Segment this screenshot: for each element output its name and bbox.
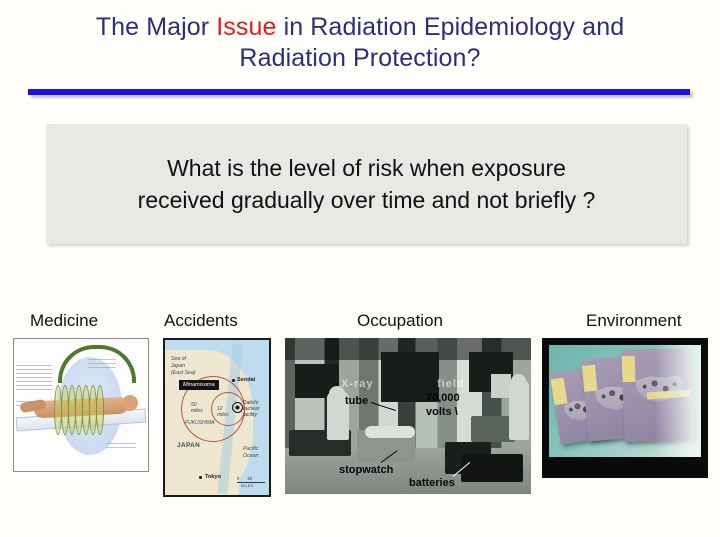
nuclear-facility-icon: [232, 402, 243, 413]
patient-head: [122, 395, 138, 411]
illustration-callout-bottom: [106, 443, 136, 450]
category-label-occupation: Occupation: [357, 311, 443, 331]
question-line-2: received gradually over time and not bri…: [138, 184, 596, 216]
map-scale-max: 50: [248, 476, 253, 481]
map-scale-units: MILES: [241, 484, 253, 488]
title-text-after: in Radiation Epidemiology and: [277, 13, 625, 41]
map-facility-line-3: facility: [243, 412, 257, 418]
map-scale-numbers: 0 50: [237, 476, 252, 481]
map-sea-of-japan-label: Sea of Japan (East Sea): [171, 356, 196, 377]
category-label-accidents: Accidents: [164, 311, 238, 331]
photo-volts-value: 70,000: [426, 392, 460, 404]
map-city-label-tokyo: Tokyo: [205, 474, 221, 480]
title-divider-rule: [28, 89, 690, 95]
category-label-environment: Environment: [586, 311, 681, 331]
photo-patient: [365, 426, 415, 438]
question-callout-box: What is the level of risk when exposure …: [46, 124, 687, 244]
booklet-band: [582, 365, 597, 392]
occupation-xray-photo: X-ray field tube 70,000 volts \ stopwatc…: [285, 338, 531, 494]
map-minamisoma-callout: Minamisoma: [179, 380, 219, 390]
photo-label-stopwatch: stopwatch: [339, 464, 393, 476]
beam-rings-group: [54, 385, 106, 433]
page-title: The Major Issue in Radiation Epidemiolog…: [30, 12, 690, 74]
photo-faint-text-left: X-ray: [341, 378, 374, 390]
photo-operator-right: [509, 380, 529, 440]
map-50-mile-label: 50 miles: [191, 402, 203, 414]
question-line-1: What is the level of risk when exposure: [138, 152, 596, 184]
beam-ring: [96, 385, 104, 435]
medicine-illustration: [13, 338, 149, 472]
map-facility-label: Daiichi nuclear facility: [243, 400, 259, 418]
photo-teal-backdrop: [549, 345, 701, 457]
category-label-medicine: Medicine: [30, 311, 98, 331]
map-sea-line-1: Sea of: [171, 356, 186, 362]
map-50-unit: miles: [191, 408, 203, 414]
photo-highlight-gradient: [655, 345, 701, 457]
photo-window-4: [491, 374, 511, 398]
presentation-slide: The Major Issue in Radiation Epidemiolog…: [0, 0, 720, 537]
illustration-callout-top: [88, 359, 116, 369]
title-line-1: The Major Issue in Radiation Epidemiolog…: [30, 12, 690, 43]
map-pacific-ocean-label: Pacific Ocean: [243, 446, 258, 460]
map-city-dot-sendai: [232, 379, 235, 382]
booklet-band: [622, 356, 636, 382]
booklet-band: [551, 378, 568, 406]
map-12-mile-label: 12 miles: [217, 406, 229, 418]
title-line-2: Radiation Protection?: [30, 43, 690, 74]
map-city-label-sendai: Sendai: [237, 377, 255, 383]
photo-label-volts: 70,000 volts \: [426, 391, 460, 419]
photo-volts-unit: volts \: [426, 406, 458, 418]
title-accent-word: Issue: [216, 13, 276, 41]
fukushima-map-image: Sea of Japan (East Sea) Pacific Ocean JA…: [163, 338, 271, 497]
map-ocean-line-1: Pacific: [243, 446, 258, 452]
map-sea-line-3: (East Sea): [171, 370, 196, 376]
map-12-unit: miles: [217, 412, 229, 418]
photo-label-tube: tube: [345, 395, 368, 407]
map-country-label: JAPAN: [177, 442, 200, 449]
photo-label-batteries: batteries: [409, 477, 455, 489]
map-prefecture-label: FUKUSHIMA: [185, 420, 214, 427]
photo-operator-right-head: [511, 374, 526, 388]
map-sea-line-2: Japan: [171, 363, 185, 369]
photo-battery-box-2: [461, 454, 523, 482]
illustration-caption-block: [16, 365, 52, 393]
map-scale-min: 0: [237, 476, 239, 481]
environment-reports-photo: [542, 338, 708, 478]
title-text-before: The Major: [96, 13, 216, 41]
map-scale-bar: [237, 482, 265, 483]
question-text: What is the level of risk when exposure …: [112, 152, 622, 216]
map-city-dot-tokyo: [199, 476, 202, 479]
illustration-callout-left: [16, 401, 34, 407]
photo-faint-text-right: field: [437, 378, 465, 390]
map-ocean-line-2: Ocean: [243, 453, 258, 459]
